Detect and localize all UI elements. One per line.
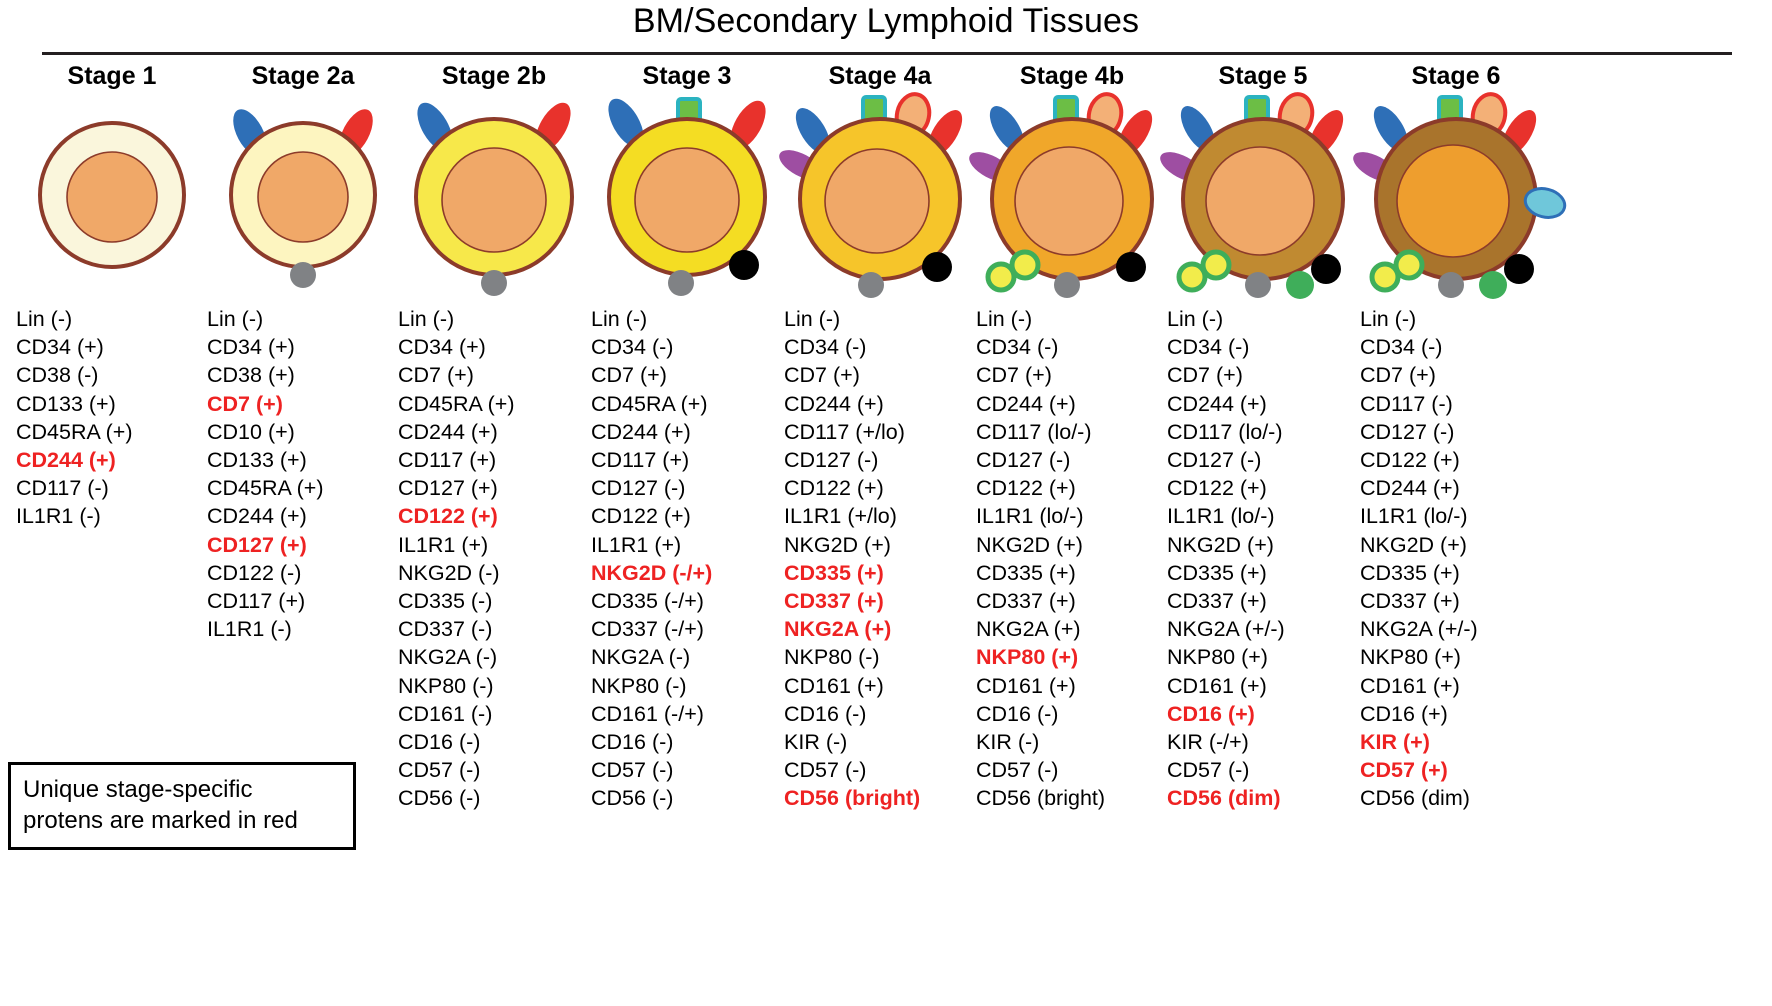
- stage-title: Stage 4b: [974, 62, 1170, 91]
- marker-item: CD122 (+): [589, 502, 785, 530]
- marker-item: CD38 (-): [14, 361, 210, 389]
- marker-item: CD7 (+): [1358, 361, 1554, 389]
- stage-column-2b: Stage 2b Lin (-)CD34 (+)CD7 (+)CD45RA (+…: [396, 62, 592, 813]
- cell-illustration-stage-6: [1358, 97, 1554, 297]
- cell-illustration-stage-1: [14, 97, 210, 297]
- marker-item: CD117 (-): [1358, 390, 1554, 418]
- marker-item: CD117 (lo/-): [1165, 418, 1361, 446]
- cell-illustration-stage-2a: [205, 97, 401, 297]
- marker-item: CD161 (+): [1165, 672, 1361, 700]
- marker-item: CD244 (+): [974, 390, 1170, 418]
- marker-list-stage-2b: Lin (-)CD34 (+)CD7 (+)CD45RA (+)CD244 (+…: [396, 305, 592, 813]
- cell-svg: [1168, 97, 1358, 297]
- marker-item: Lin (-): [205, 305, 401, 333]
- legend-line-1: Unique stage-specific: [23, 774, 341, 805]
- header-divider: [42, 52, 1732, 55]
- marker-item: CD127 (-): [974, 446, 1170, 474]
- marker-list-stage-4a: Lin (-)CD34 (-)CD7 (+)CD244 (+)CD117 (+/…: [782, 305, 978, 813]
- marker-item: KIR (-): [782, 728, 978, 756]
- marker-item: CD57 (-): [1165, 756, 1361, 784]
- marker-item: CD57 (-): [589, 756, 785, 784]
- marker-item: CD337 (-/+): [589, 615, 785, 643]
- marker-item: CD117 (+/lo): [782, 418, 978, 446]
- marker-item: NKP80 (-): [396, 672, 592, 700]
- marker-item: CD335 (+): [782, 559, 978, 587]
- cell-nucleus: [1397, 145, 1509, 257]
- marker-item: NKP80 (-): [589, 672, 785, 700]
- marker-item: CD122 (+): [396, 502, 592, 530]
- marker-item: CD122 (+): [974, 474, 1170, 502]
- cell-nucleus: [1015, 147, 1123, 255]
- marker-item: CD34 (+): [396, 333, 592, 361]
- marker-item: CD45RA (+): [14, 418, 210, 446]
- receptor-grey-icon: [290, 262, 316, 288]
- marker-item: CD335 (-/+): [589, 587, 785, 615]
- marker-list-stage-3: Lin (-)CD34 (-)CD7 (+)CD45RA (+)CD244 (+…: [589, 305, 785, 813]
- marker-item: CD56 (bright): [974, 784, 1170, 812]
- marker-item: CD335 (-): [396, 587, 592, 615]
- legend-line-2: protens are marked in red: [23, 805, 341, 836]
- stage-column-5: Stage 5 Lin (-)CD34 (-)CD7 (+)CD244 (+)C…: [1165, 62, 1361, 813]
- stage-title: Stage 5: [1165, 62, 1361, 91]
- marker-item: CD127 (-): [782, 446, 978, 474]
- marker-item: CD337 (+): [1358, 587, 1554, 615]
- marker-item: CD56 (bright): [782, 784, 978, 812]
- stage-title: Stage 4a: [782, 62, 978, 91]
- marker-item: CD7 (+): [1165, 361, 1361, 389]
- marker-item: CD16 (-): [589, 728, 785, 756]
- stage-title: Stage 2a: [205, 62, 401, 91]
- marker-list-stage-6: Lin (-)CD34 (-)CD7 (+)CD117 (-)CD127 (-)…: [1358, 305, 1554, 813]
- stage-column-1: Stage 1 Lin (-)CD34 (+)CD38 (-)CD133 (+)…: [14, 62, 210, 531]
- receptor-black-icon: [922, 252, 952, 282]
- stage-column-2a: Stage 2a Lin (-)CD34 (+)CD38 (+)CD7 (+)C…: [205, 62, 401, 643]
- legend-box: Unique stage-specific protens are marked…: [8, 762, 356, 850]
- marker-item: IL1R1 (lo/-): [974, 502, 1170, 530]
- marker-item: CD56 (dim): [1358, 784, 1554, 812]
- marker-item: NKG2D (-): [396, 559, 592, 587]
- marker-item: CD244 (+): [14, 446, 210, 474]
- stage-title: Stage 1: [14, 62, 210, 91]
- marker-item: CD127 (-): [1358, 418, 1554, 446]
- marker-item: IL1R1 (-): [14, 502, 210, 530]
- marker-item: IL1R1 (lo/-): [1165, 502, 1361, 530]
- marker-item: NKP80 (+): [1358, 643, 1554, 671]
- marker-item: CD16 (-): [974, 700, 1170, 728]
- marker-item: CD45RA (+): [396, 390, 592, 418]
- marker-item: CD117 (+): [205, 587, 401, 615]
- marker-item: CD244 (+): [782, 390, 978, 418]
- cell-nucleus: [1206, 147, 1314, 255]
- marker-item: CD133 (+): [14, 390, 210, 418]
- marker-item: CD16 (-): [782, 700, 978, 728]
- cell-illustration-stage-3: [589, 97, 785, 297]
- marker-item: NKG2A (+): [782, 615, 978, 643]
- figure-title: BM/Secondary Lymphoid Tissues: [0, 2, 1772, 41]
- figure-root: BM/Secondary Lymphoid Tissues Stage 1 Li…: [0, 0, 1772, 1006]
- marker-item: CD244 (+): [589, 418, 785, 446]
- stage-column-4b: Stage 4b Lin (-)CD34 (-)CD7 (+)CD244 (+)…: [974, 62, 1170, 813]
- marker-item: CD34 (-): [974, 333, 1170, 361]
- marker-item: CD10 (+): [205, 418, 401, 446]
- stage-title: Stage 6: [1358, 62, 1554, 91]
- cell-nucleus: [67, 152, 157, 242]
- receptor-grey-icon: [1245, 272, 1271, 298]
- cell-nucleus: [258, 152, 348, 242]
- marker-item: CD161 (-/+): [589, 700, 785, 728]
- cell-illustration-stage-4b: [974, 97, 1170, 297]
- marker-item: NKG2A (-): [589, 643, 785, 671]
- marker-item: CD335 (+): [974, 559, 1170, 587]
- marker-item: CD57 (-): [782, 756, 978, 784]
- receptor-yellow-ring-icon: [1203, 252, 1229, 278]
- marker-item: IL1R1 (+/lo): [782, 502, 978, 530]
- marker-item: Lin (-): [974, 305, 1170, 333]
- marker-item: CD34 (-): [1165, 333, 1361, 361]
- receptor-yellow-ring-icon: [1396, 252, 1422, 278]
- marker-item: CD38 (+): [205, 361, 401, 389]
- stage-title: Stage 2b: [396, 62, 592, 91]
- marker-item: CD161 (+): [782, 672, 978, 700]
- cell-illustration-stage-4a: [782, 97, 978, 297]
- marker-item: CD127 (-): [1165, 446, 1361, 474]
- cell-svg: [17, 97, 207, 297]
- receptor-grey-icon: [1054, 272, 1080, 298]
- marker-item: CD244 (+): [1165, 390, 1361, 418]
- cell-illustration-stage-5: [1165, 97, 1361, 297]
- marker-item: CD34 (-): [782, 333, 978, 361]
- marker-list-stage-1: Lin (-)CD34 (+)CD38 (-)CD133 (+)CD45RA (…: [14, 305, 210, 531]
- marker-item: CD337 (+): [974, 587, 1170, 615]
- marker-item: CD45RA (+): [589, 390, 785, 418]
- marker-item: CD122 (-): [205, 559, 401, 587]
- marker-item: CD34 (+): [205, 333, 401, 361]
- stage-column-6: Stage 6 Lin (-)CD34 (-)CD7 (+)CD117 (-)C…: [1358, 62, 1554, 813]
- marker-item: CD45RA (+): [205, 474, 401, 502]
- marker-item: IL1R1 (+): [396, 531, 592, 559]
- receptor-grey-icon: [858, 272, 884, 298]
- marker-item: NKG2D (+): [974, 531, 1170, 559]
- marker-item: CD7 (+): [396, 361, 592, 389]
- marker-item: NKP80 (+): [974, 643, 1170, 671]
- marker-item: IL1R1 (-): [205, 615, 401, 643]
- receptor-black-icon: [1504, 254, 1534, 284]
- marker-item: Lin (-): [1165, 305, 1361, 333]
- marker-item: CD127 (-): [589, 474, 785, 502]
- marker-item: CD244 (+): [205, 502, 401, 530]
- receptor-black-icon: [729, 250, 759, 280]
- marker-item: NKG2A (+/-): [1165, 615, 1361, 643]
- stage-title: Stage 3: [589, 62, 785, 91]
- stage-column-4a: Stage 4a Lin (-)CD34 (-)CD7 (+)CD244 (+)…: [782, 62, 978, 813]
- cell-nucleus: [825, 149, 929, 253]
- receptor-grey-icon: [668, 270, 694, 296]
- receptor-black-icon: [1116, 252, 1146, 282]
- marker-item: Lin (-): [782, 305, 978, 333]
- marker-list-stage-2a: Lin (-)CD34 (+)CD38 (+)CD7 (+)CD10 (+)CD…: [205, 305, 401, 643]
- cell-svg: [592, 97, 782, 297]
- marker-item: CD244 (+): [1358, 474, 1554, 502]
- marker-item: KIR (-/+): [1165, 728, 1361, 756]
- marker-item: CD127 (+): [396, 474, 592, 502]
- marker-item: CD161 (+): [974, 672, 1170, 700]
- cell-svg: [208, 97, 398, 297]
- marker-item: KIR (-): [974, 728, 1170, 756]
- marker-item: CD161 (+): [1358, 672, 1554, 700]
- marker-item: NKG2D (+): [1165, 531, 1361, 559]
- marker-item: CD56 (-): [396, 784, 592, 812]
- receptor-green-circle-icon: [1479, 271, 1507, 299]
- marker-item: KIR (+): [1358, 728, 1554, 756]
- marker-item: NKP80 (-): [782, 643, 978, 671]
- receptor-green-circle-icon: [1286, 271, 1314, 299]
- cell-svg: [399, 97, 589, 297]
- marker-item: IL1R1 (lo/-): [1358, 502, 1554, 530]
- marker-item: CD7 (+): [974, 361, 1170, 389]
- stage-column-3: Stage 3 Lin (-)CD34 (-)CD7 (+)CD45RA (+)…: [589, 62, 785, 813]
- marker-item: CD7 (+): [205, 390, 401, 418]
- marker-item: CD161 (-): [396, 700, 592, 728]
- marker-item: CD337 (+): [1165, 587, 1361, 615]
- receptor-yellow-ring-icon: [1012, 252, 1038, 278]
- marker-item: CD57 (-): [974, 756, 1170, 784]
- marker-item: NKG2D (+): [782, 531, 978, 559]
- cell-nucleus: [635, 148, 739, 252]
- marker-item: IL1R1 (+): [589, 531, 785, 559]
- marker-item: CD117 (-): [14, 474, 210, 502]
- marker-item: CD337 (-): [396, 615, 592, 643]
- marker-item: CD335 (+): [1358, 559, 1554, 587]
- marker-item: NKG2A (+): [974, 615, 1170, 643]
- marker-item: CD57 (+): [1358, 756, 1554, 784]
- marker-item: NKG2D (-/+): [589, 559, 785, 587]
- marker-item: NKG2D (+): [1358, 531, 1554, 559]
- marker-item: CD122 (+): [782, 474, 978, 502]
- marker-item: CD57 (-): [396, 756, 592, 784]
- marker-item: CD117 (lo/-): [974, 418, 1170, 446]
- marker-item: CD56 (dim): [1165, 784, 1361, 812]
- marker-item: NKG2A (+/-): [1358, 615, 1554, 643]
- marker-item: CD7 (+): [782, 361, 978, 389]
- marker-item: CD7 (+): [589, 361, 785, 389]
- cell-svg: [977, 97, 1167, 297]
- receptor-black-icon: [1311, 254, 1341, 284]
- receptor-grey-icon: [481, 270, 507, 296]
- marker-item: CD56 (-): [589, 784, 785, 812]
- marker-list-stage-5: Lin (-)CD34 (-)CD7 (+)CD244 (+)CD117 (lo…: [1165, 305, 1361, 813]
- marker-item: Lin (-): [1358, 305, 1554, 333]
- marker-item: Lin (-): [589, 305, 785, 333]
- marker-item: CD34 (+): [14, 333, 210, 361]
- marker-item: CD127 (+): [205, 531, 401, 559]
- marker-item: CD244 (+): [396, 418, 592, 446]
- marker-item: CD122 (+): [1165, 474, 1361, 502]
- receptor-grey-icon: [1438, 272, 1464, 298]
- marker-item: CD335 (+): [1165, 559, 1361, 587]
- marker-item: Lin (-): [14, 305, 210, 333]
- marker-item: CD16 (+): [1358, 700, 1554, 728]
- marker-item: CD16 (+): [1165, 700, 1361, 728]
- cell-nucleus: [442, 148, 546, 252]
- marker-item: CD16 (-): [396, 728, 592, 756]
- marker-item: NKP80 (+): [1165, 643, 1361, 671]
- marker-item: CD117 (+): [396, 446, 592, 474]
- marker-item: CD337 (+): [782, 587, 978, 615]
- marker-list-stage-4b: Lin (-)CD34 (-)CD7 (+)CD244 (+)CD117 (lo…: [974, 305, 1170, 813]
- marker-item: CD122 (+): [1358, 446, 1554, 474]
- marker-item: NKG2A (-): [396, 643, 592, 671]
- marker-item: Lin (-): [396, 305, 592, 333]
- marker-item: CD34 (-): [589, 333, 785, 361]
- marker-item: CD34 (-): [1358, 333, 1554, 361]
- cell-svg: [785, 97, 975, 297]
- cell-svg: [1361, 97, 1551, 297]
- cell-illustration-stage-2b: [396, 97, 592, 297]
- marker-item: CD133 (+): [205, 446, 401, 474]
- marker-item: CD117 (+): [589, 446, 785, 474]
